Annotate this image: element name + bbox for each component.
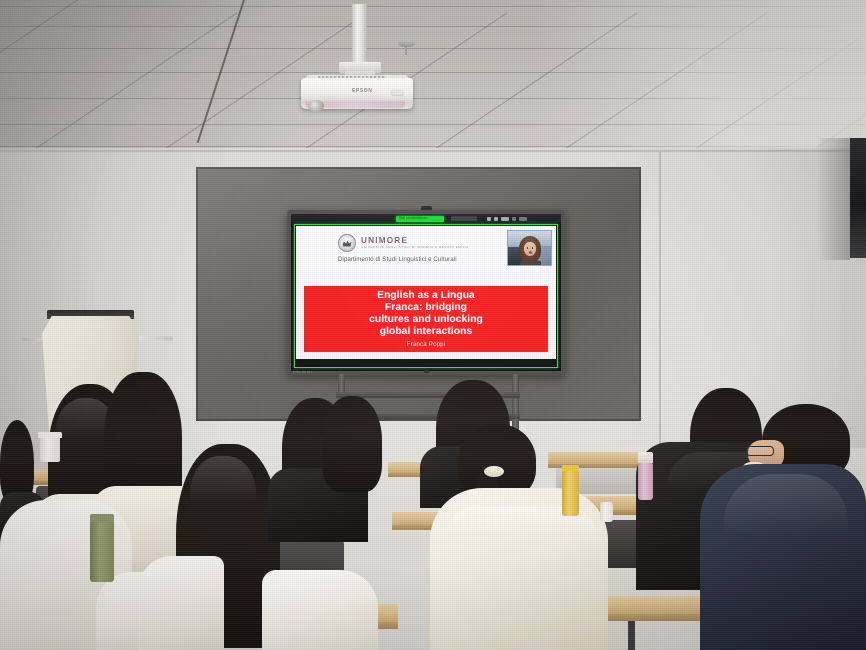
mic-icon[interactable] — [487, 217, 491, 221]
screen-bottom-band — [296, 359, 556, 368]
speaker-face — [524, 242, 536, 256]
screen-share-toolbar[interactable]: Stai condividendo — [291, 214, 561, 223]
coat-left-fg-right — [262, 570, 378, 650]
speaker-body — [520, 260, 541, 265]
projector-brand-label: EPSON — [352, 88, 373, 94]
yellow-thermos-cap — [562, 465, 579, 471]
small-cup-right[interactable] — [600, 502, 613, 522]
participants-icon[interactable] — [512, 217, 516, 221]
sharing-label: Stai condividendo — [399, 216, 442, 220]
pink-thermos-cap — [638, 452, 653, 463]
speaker-eye-right — [532, 247, 534, 249]
hair-scrunchie — [484, 466, 504, 477]
projector-mount-pole — [352, 4, 367, 66]
toolbar-menu-box[interactable] — [451, 216, 477, 221]
white-cup[interactable] — [40, 436, 60, 462]
video-call-thumbnail[interactable] — [507, 230, 552, 266]
green-thermos-cap — [90, 514, 114, 522]
ceiling — [0, 0, 866, 152]
university-name: UNIMORE — [361, 237, 469, 245]
yellow-thermos[interactable] — [562, 470, 579, 516]
hair-back-small-left — [322, 396, 382, 492]
projector-lens — [308, 100, 324, 112]
pink-thermos[interactable] — [638, 462, 653, 500]
camera-icon[interactable] — [494, 217, 498, 221]
speaker-eye-left — [527, 247, 529, 249]
white-cup-lid — [38, 432, 62, 438]
display-brand-logo: hikvision — [293, 369, 312, 374]
green-thermos[interactable] — [90, 520, 114, 582]
smoke-detector-stem — [405, 46, 407, 55]
slide-author: Franca Poppi — [407, 341, 446, 348]
projector-focus-knob[interactable] — [391, 89, 404, 96]
display-stand-leg-right — [512, 374, 519, 434]
speaker-mouth — [529, 251, 533, 254]
toolbar-icon-group[interactable] — [487, 216, 545, 221]
wall-vertical-joint — [659, 152, 661, 452]
slide-title-line-3: cultures and unlocking — [369, 314, 483, 326]
classroom-photo: EPSON Stai condividendo — [0, 0, 866, 650]
department-name: Dipartimento di Studi Linguistici e Cult… — [338, 256, 498, 265]
display-ir-sensor-icon — [424, 370, 429, 373]
interactive-display[interactable]: Stai condividendo UNIMORE — [287, 210, 565, 375]
university-branding: UNIMORE UNIVERSITA DEGLI STUDI DI MODENA… — [338, 234, 469, 252]
right-panel-glow — [816, 138, 850, 260]
slide-title-line-4: global interactions — [380, 326, 473, 338]
presentation-slide: UNIMORE UNIVERSITA DEGLI STUDI DI MODENA… — [296, 226, 556, 359]
wall-mounted-panel — [850, 138, 866, 258]
university-seal-icon — [338, 234, 356, 252]
more-options-icon[interactable] — [519, 217, 527, 221]
coat-far-right-hood — [724, 474, 848, 536]
share-screen-icon[interactable] — [501, 217, 509, 221]
slide-title-box: English as a Lingua Franca: bridging cul… — [304, 286, 548, 352]
glasses-icon — [746, 446, 774, 456]
desk-front-right-leg — [628, 621, 635, 650]
coat-left-foreground — [138, 556, 224, 650]
display-screen[interactable]: Stai condividendo UNIMORE — [291, 214, 561, 371]
slide-title-line-1: English as a Lingua — [377, 290, 475, 302]
slide-title-line-2: Franca: bridging — [385, 302, 467, 314]
university-subtitle: UNIVERSITA DEGLI STUDI DI MODENA E REGGI… — [361, 246, 469, 249]
